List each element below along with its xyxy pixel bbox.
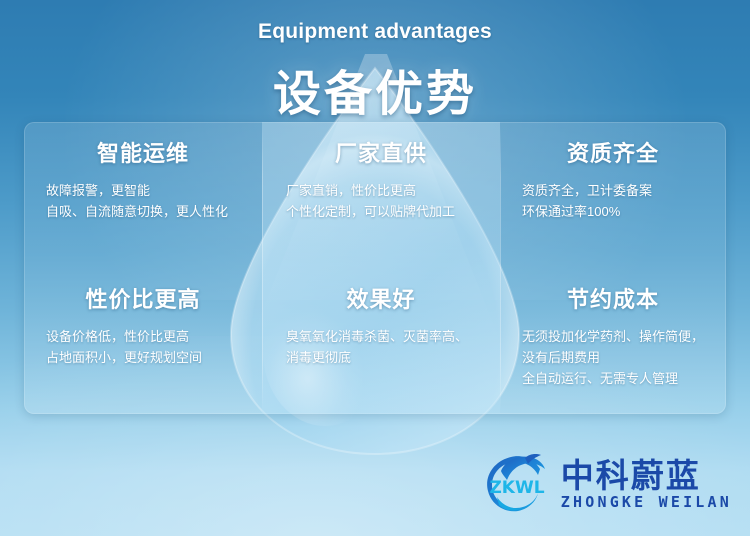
advantage-cell-factory-direct: 厂家直供 厂家直销，性价比更高 个性化定制，可以贴牌代加工 bbox=[262, 122, 500, 268]
advantage-heading: 性价比更高 bbox=[40, 282, 246, 314]
advantage-cell-qualifications: 资质齐全 资质齐全，卫计委备案 环保通过率100% bbox=[500, 122, 726, 268]
logo-name-english: ZHONGKE WEILAN bbox=[561, 493, 732, 511]
advantage-line: 厂家直销，性价比更高 bbox=[286, 180, 484, 201]
advantage-description: 无须投加化学药剂、操作简便， 没有后期费用 全自动运行、无需专人管理 bbox=[516, 326, 710, 389]
advantage-cell-smart-ops: 智能运维 故障报警，更智能 自吸、自流随意切换，更人性化 bbox=[24, 122, 262, 268]
poster-canvas: Equipment advantages 设备优势 智能运维 故障报警，更智能 … bbox=[0, 0, 750, 536]
advantage-line: 无须投加化学药剂、操作简便， bbox=[522, 326, 710, 347]
advantage-heading: 效果好 bbox=[278, 282, 484, 314]
advantage-line: 环保通过率100% bbox=[522, 201, 710, 222]
advantage-description: 故障报警，更智能 自吸、自流随意切换，更人性化 bbox=[40, 180, 246, 222]
logo-name-chinese: 中科蔚蓝 bbox=[561, 459, 732, 493]
advantage-cell-good-effect: 效果好 臭氧氧化消毒杀菌、灭菌率高、 消毒更彻底 bbox=[262, 268, 500, 414]
advantage-description: 臭氧氧化消毒杀菌、灭菌率高、 消毒更彻底 bbox=[278, 326, 484, 368]
advantage-line: 没有后期费用 bbox=[522, 347, 710, 368]
brand-logo: ZKWL 中科蔚蓝 ZHONGKE WEILAN bbox=[481, 448, 732, 522]
advantage-heading: 智能运维 bbox=[40, 136, 246, 168]
advantage-line: 臭氧氧化消毒杀菌、灭菌率高、 bbox=[286, 326, 484, 347]
advantage-heading: 厂家直供 bbox=[278, 136, 484, 168]
advantage-line: 自吸、自流随意切换，更人性化 bbox=[46, 201, 246, 222]
advantage-line: 占地面积小，更好规划空间 bbox=[46, 347, 246, 368]
logo-text-block: 中科蔚蓝 ZHONGKE WEILAN bbox=[561, 459, 732, 511]
advantages-panel: 智能运维 故障报警，更智能 自吸、自流随意切换，更人性化 厂家直供 厂家直销，性… bbox=[24, 122, 726, 414]
advantage-cell-cost-performance: 性价比更高 设备价格低，性价比更高 占地面积小，更好规划空间 bbox=[24, 268, 262, 414]
advantage-description: 资质齐全，卫计委备案 环保通过率100% bbox=[516, 180, 710, 222]
advantage-line: 个性化定制，可以贴牌代加工 bbox=[286, 201, 484, 222]
advantages-grid: 智能运维 故障报警，更智能 自吸、自流随意切换，更人性化 厂家直供 厂家直销，性… bbox=[24, 122, 726, 414]
logo-mark-text: ZKWL bbox=[489, 478, 544, 498]
advantage-line: 设备价格低，性价比更高 bbox=[46, 326, 246, 347]
advantage-line: 故障报警，更智能 bbox=[46, 180, 246, 201]
advantage-line: 消毒更彻底 bbox=[286, 347, 484, 368]
advantage-description: 厂家直销，性价比更高 个性化定制，可以贴牌代加工 bbox=[278, 180, 484, 222]
advantage-line: 资质齐全，卫计委备案 bbox=[522, 180, 710, 201]
advantage-heading: 节约成本 bbox=[516, 282, 710, 314]
advantage-heading: 资质齐全 bbox=[516, 136, 710, 168]
dolphin-circle-icon: ZKWL bbox=[481, 453, 553, 517]
advantage-cell-save-cost: 节约成本 无须投加化学药剂、操作简便， 没有后期费用 全自动运行、无需专人管理 bbox=[500, 268, 726, 414]
advantage-description: 设备价格低，性价比更高 占地面积小，更好规划空间 bbox=[40, 326, 246, 368]
page-title-chinese: 设备优势 bbox=[0, 54, 750, 124]
advantage-line: 全自动运行、无需专人管理 bbox=[522, 368, 710, 389]
page-title-english: Equipment advantages bbox=[0, 20, 750, 44]
